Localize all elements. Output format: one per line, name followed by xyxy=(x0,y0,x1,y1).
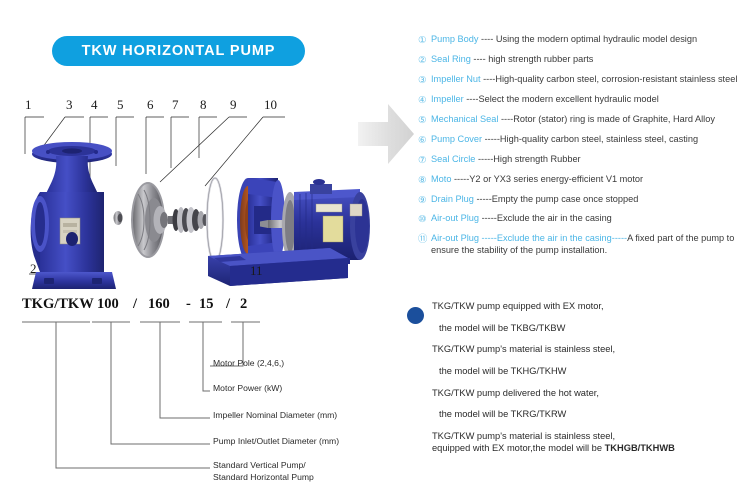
right-arrow-icon xyxy=(358,98,414,175)
spec-text: Impeller Nut ----High-quality carbon ste… xyxy=(431,74,756,86)
spec-term: Seal Circle xyxy=(431,154,475,164)
spec-separator: ----- xyxy=(612,233,627,243)
spec-description: Empty the pump case once stopped xyxy=(492,194,639,204)
spec-row: ⑥Pump Cover -----High-quality carbon ste… xyxy=(418,134,756,146)
leader-label-standard-vert: Standard Vertical Pump/ xyxy=(213,460,306,472)
spec-number: ⑦ xyxy=(418,154,431,166)
spec-text: Seal Circle -----High strength Rubber xyxy=(431,154,756,166)
spec-row: ⑤Mechanical Seal ----Rotor (stator) ring… xyxy=(418,114,756,126)
callout-8: 8 xyxy=(200,98,207,111)
model-code-breakdown: TKG/TKW 100 / 160 - 15 / 2 xyxy=(0,296,400,500)
callout-4: 4 xyxy=(91,98,98,111)
page-title: TKW HORIZONTAL PUMP xyxy=(82,43,276,59)
spec-separator: ---- xyxy=(479,34,496,44)
callout-10: 10 xyxy=(264,98,277,111)
leader-line-graph xyxy=(0,296,400,500)
bullet-icon xyxy=(407,307,424,324)
spec-row: ③Impeller Nut ----High-quality carbon st… xyxy=(418,74,756,86)
spec-row: ⑦Seal Circle -----High strength Rubber xyxy=(418,154,756,166)
spec-text: Pump Cover -----High-quality carbon stee… xyxy=(431,134,756,146)
spec-separator: ---- xyxy=(481,74,496,84)
spec-number: ⑩ xyxy=(418,213,431,225)
spec-term: Air-out Plug -----Exclude the air in the… xyxy=(431,233,612,243)
model-variant-notes: TKG/TKW pump equipped with EX motor,the … xyxy=(404,302,756,466)
note-line: the model will be TKRG/TKRW xyxy=(432,410,756,419)
note-text: equipped with EX motor,the model will be xyxy=(432,443,605,453)
spec-description: High strength Rubber xyxy=(493,154,580,164)
leader-label-impeller-dia: Impeller Nominal Diameter (mm) xyxy=(213,410,337,422)
spec-term: Impeller xyxy=(431,94,464,104)
spec-row: ④ Impeller ----Select the modern excelle… xyxy=(418,94,756,106)
spec-term: Mechanical Seal xyxy=(431,114,498,124)
callout-5: 5 xyxy=(117,98,124,111)
component-spec-list: ①Pump Body ---- Using the modern optimal… xyxy=(418,34,756,265)
note-line: the model will be TKHG/TKHW xyxy=(432,367,756,376)
page-root: TKW HORIZONTAL PUMP xyxy=(0,0,756,500)
callout-6: 6 xyxy=(147,98,154,111)
spec-separator: ----- xyxy=(482,134,500,144)
spec-description: Rotor (stator) ring is made of Graphite,… xyxy=(513,114,715,124)
leader-label-motor-pole: Motor Pole (2,4,6,) xyxy=(213,358,284,370)
leader-label-inlet-dia: Pump Inlet/Outlet Diameter (mm) xyxy=(213,436,339,448)
spec-description: high strength rubber parts xyxy=(488,54,593,64)
spec-separator: ----- xyxy=(479,213,497,223)
spec-term: Impeller Nut xyxy=(431,74,481,84)
spec-term: Moto xyxy=(431,174,451,184)
leader-label-motor-power: Motor Power (kW) xyxy=(213,383,282,395)
spec-number: ③ xyxy=(418,74,431,86)
spec-separator: ----- xyxy=(474,194,492,204)
spec-number: ⑤ xyxy=(418,114,431,126)
page-title-banner: TKW HORIZONTAL PUMP xyxy=(52,36,305,66)
spec-description: High-quality carbon steel, corrosion-res… xyxy=(495,74,737,84)
spec-text: Moto -----Y2 or YX3 series energy-effici… xyxy=(431,174,756,186)
spec-separator: ---- xyxy=(464,94,479,104)
spec-separator: ---- xyxy=(498,114,513,124)
spec-term: Air-out Plug xyxy=(431,213,479,223)
callout-9: 9 xyxy=(230,98,237,111)
spec-row: ②Seal Ring ---- high strength rubber par… xyxy=(418,54,756,66)
spec-separator: ----- xyxy=(451,174,469,184)
callout-2: 2 xyxy=(30,262,37,275)
spec-description: Select the modern excellent hydraulic mo… xyxy=(478,94,658,104)
spec-number: ⑨ xyxy=(418,194,431,206)
spec-text: Air-out Plug -----Exclude the air in the… xyxy=(431,213,756,225)
spec-text: Air-out Plug -----Exclude the air in the… xyxy=(431,233,756,256)
callout-3: 3 xyxy=(66,98,73,111)
spec-number: ② xyxy=(418,54,431,66)
spec-text: Impeller ----Select the modern excellent… xyxy=(431,94,756,106)
spec-number: ④ xyxy=(418,94,431,106)
spec-number: ⑧ xyxy=(418,174,431,186)
spec-row: ⑧ Moto -----Y2 or YX3 series energy-effi… xyxy=(418,174,756,186)
spec-number: ⑪ xyxy=(418,233,431,245)
spec-separator: ----- xyxy=(475,154,493,164)
spec-term: Pump Cover xyxy=(431,134,482,144)
spec-number: ① xyxy=(418,34,431,46)
spec-row: ⑨Drain Plug -----Empty the pump case onc… xyxy=(418,194,756,206)
callout-7: 7 xyxy=(172,98,179,111)
note-line: TKG/TKW pump equipped with EX motor, xyxy=(432,302,756,311)
note-line: TKG/TKW pump's material is stainless ste… xyxy=(432,432,756,441)
note-line: equipped with EX motor,the model will be… xyxy=(432,444,756,453)
spec-term: Drain Plug xyxy=(431,194,474,204)
spec-number: ⑥ xyxy=(418,134,431,146)
spec-text: Mechanical Seal ----Rotor (stator) ring … xyxy=(431,114,756,126)
spec-row: ①Pump Body ---- Using the modern optimal… xyxy=(418,34,756,46)
note-model-code: TKHGB/TKHWB xyxy=(605,443,675,453)
spec-description: Using the modern optimal hydraulic model… xyxy=(496,34,697,44)
callout-1: 1 xyxy=(25,98,32,111)
note-line: TKG/TKW pump delivered the hot water, xyxy=(432,389,756,398)
spec-description: Exclude the air in the casing xyxy=(497,213,612,223)
callout-11: 11 xyxy=(250,264,263,277)
spec-term: Seal Ring xyxy=(431,54,471,64)
spec-description: High-quality carbon steel, stainless ste… xyxy=(500,134,698,144)
note-line-list: TKG/TKW pump equipped with EX motor,the … xyxy=(432,302,756,453)
pump-illustration xyxy=(0,96,400,296)
spec-description: Y2 or YX3 series energy-efficient V1 mot… xyxy=(469,174,643,184)
spec-text: Seal Ring ---- high strength rubber part… xyxy=(431,54,756,66)
spec-term: Pump Body xyxy=(431,34,479,44)
exploded-pump-diagram: 1 2 3 4 5 6 7 8 9 10 11 xyxy=(0,96,400,296)
spec-text: Pump Body ---- Using the modern optimal … xyxy=(431,34,756,46)
spec-row: ⑪Air-out Plug -----Exclude the air in th… xyxy=(418,233,756,256)
spec-row: ⑩Air-out Plug -----Exclude the air in th… xyxy=(418,213,756,225)
leader-label-standard-horiz: Standard Horizontal Pump xyxy=(213,472,314,484)
note-line: TKG/TKW pump's material is stainless ste… xyxy=(432,345,756,354)
spec-separator: ---- xyxy=(471,54,488,64)
spec-text: Drain Plug -----Empty the pump case once… xyxy=(431,194,756,206)
note-line: the model will be TKBG/TKBW xyxy=(432,324,756,333)
